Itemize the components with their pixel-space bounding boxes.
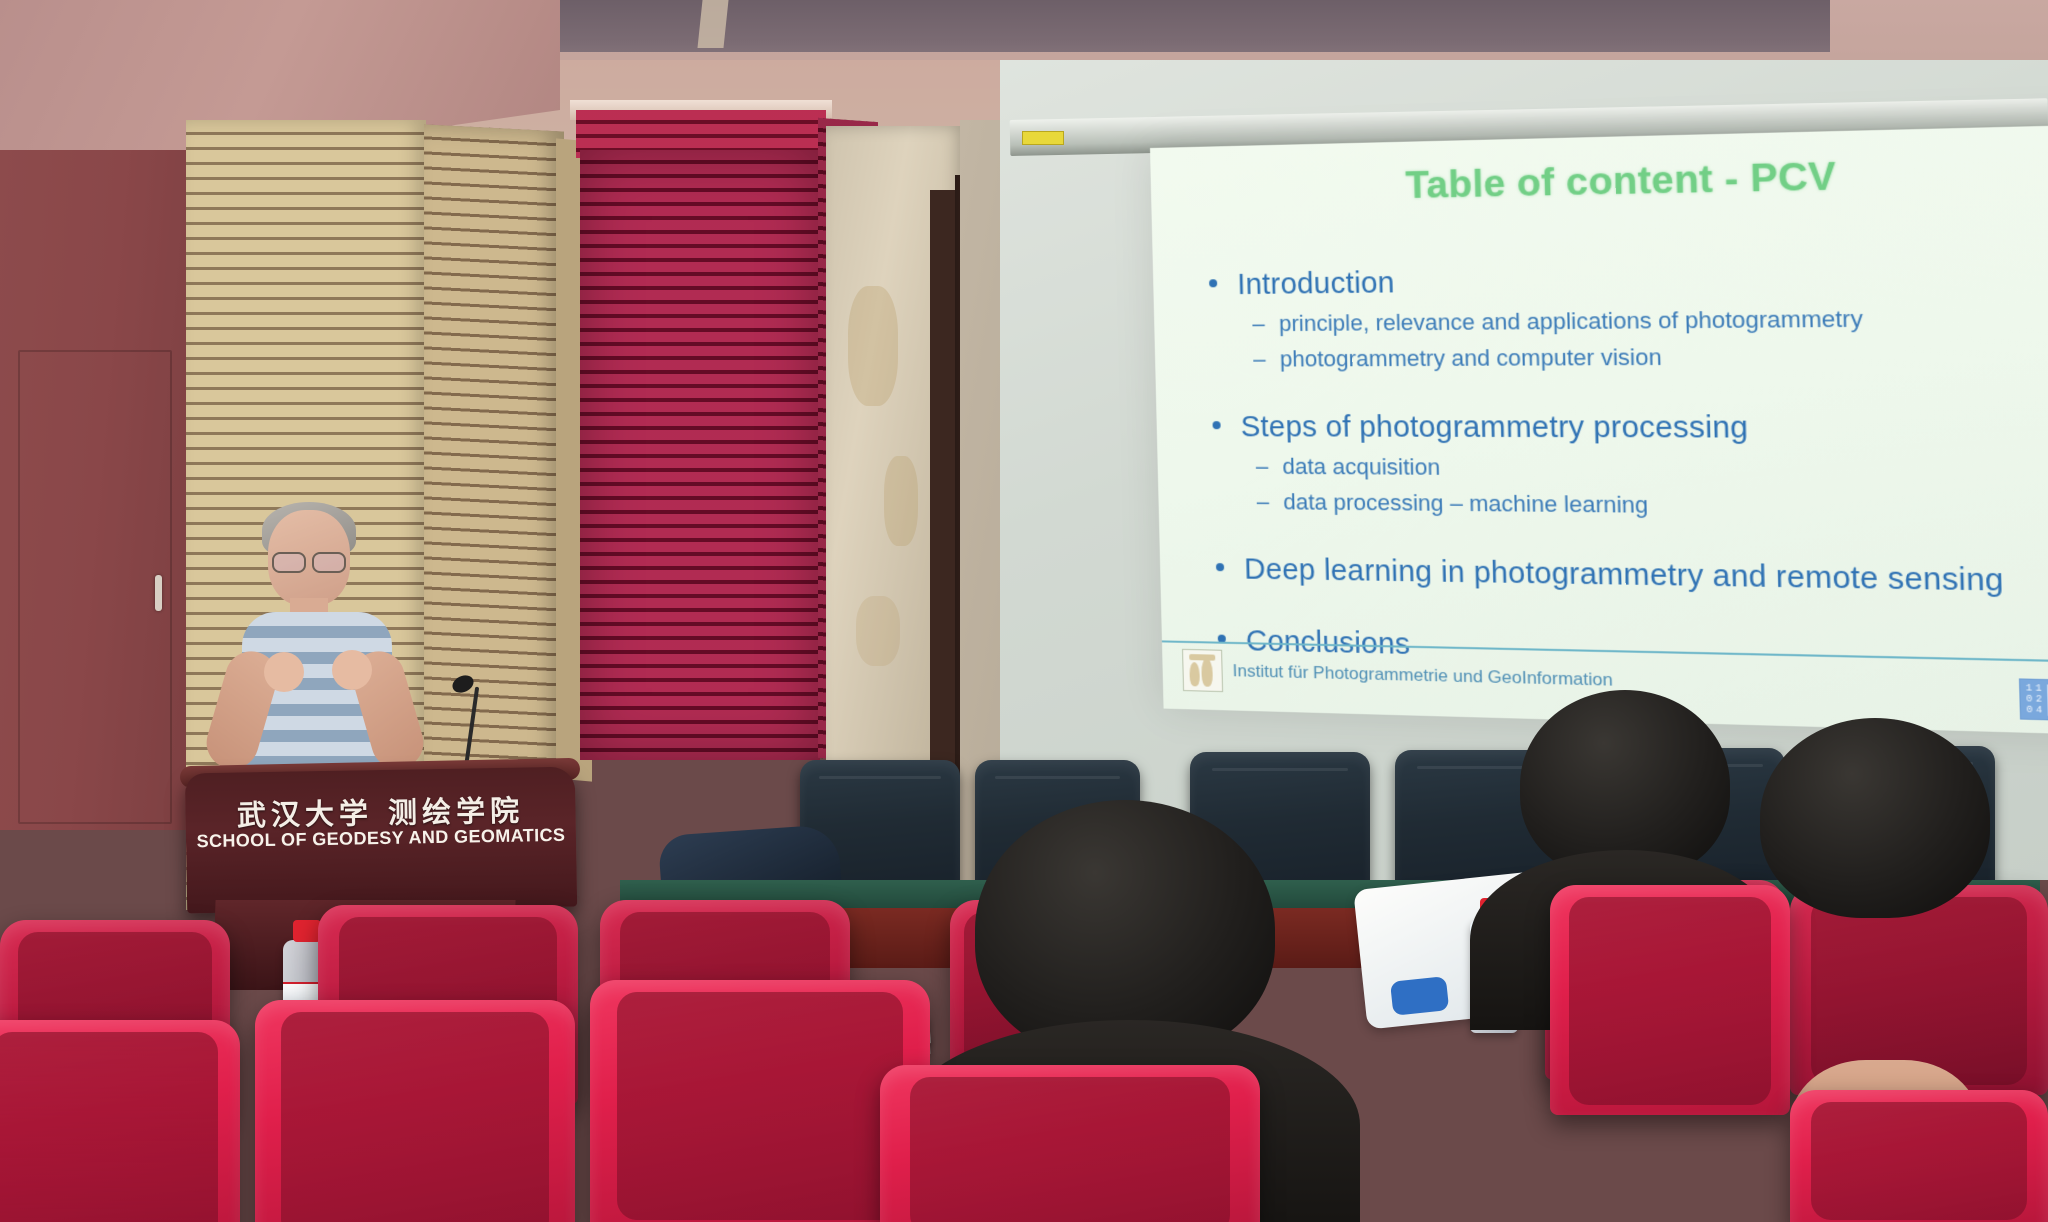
institute-name: Institut für Photogrammetrie und GeoInfo… [1232,661,1613,691]
leibniz-universitaet-hannover-logo: 1 1 0 2 0 4 Leibniz Universität Hannover [2019,678,2048,722]
door-handle [155,575,162,611]
dash-icon: – [1252,311,1265,337]
slide-title: Table of content - PCV [1151,148,2048,212]
audience-seat-foreground [1550,885,1790,1115]
audience-member-head [1760,718,1990,918]
dash-icon: – [1256,489,1269,515]
bullet-text: Steps of photogrammetry processing [1240,411,1748,446]
lecture-hall-photo: Table of content - PCV Introduction – pr… [0,0,2048,1222]
slide-footer: Institut für Photogrammetrie und GeoInfo… [1182,649,1613,702]
bag-blue-item [1390,976,1449,1016]
slide-bullet-level2: – principle, relevance and applications … [1252,303,2048,337]
bottle-cap [293,920,321,942]
housing-label-sticker [1022,131,1064,145]
slide-spacer [1207,370,2048,407]
slide-body: Introduction – principle, relevance and … [1205,253,2048,678]
subbullet-text: principle, relevance and applications of… [1279,305,1864,337]
subbullet-text: photogrammetry and computer vision [1280,344,1663,373]
subbullet-text: data processing – machine learning [1283,489,1649,519]
presenter-hand-left [264,652,304,692]
ipi-institute-logo-icon [1182,649,1223,692]
presenter [220,500,470,790]
audience-seat-foreground [0,1020,240,1222]
glasses-icon [272,552,346,569]
presentation-slide[interactable]: Table of content - PCV Introduction – pr… [1150,124,2048,736]
audience-seat-foreground [590,980,930,1222]
bullet-dot-icon [1212,421,1220,429]
wall-left-panel [0,150,190,830]
slide-bullet-level1: Introduction [1205,258,2048,303]
dash-icon: – [1256,454,1269,480]
slide-bullet-level2: – data acquisition [1256,454,2048,486]
ceiling-beam [697,0,728,48]
dash-icon: – [1253,346,1266,372]
slide-bullet-level1: Steps of photogrammetry processing [1208,411,2048,447]
subbullet-text: data acquisition [1282,454,1440,481]
bullet-text: Introduction [1237,267,1395,302]
audience-seat-foreground [880,1065,1260,1222]
bullet-dot-icon [1216,563,1224,571]
red-panel-main [580,150,820,760]
podium: 武汉大学 测绘学院 SCHOOL OF GEODESY AND GEOMATIC… [185,767,577,914]
presenter-hand-right [332,650,372,690]
leibniz-logo-digits: 1 1 0 2 0 4 [2026,683,2048,715]
slide-bullet-level2: – photogrammetry and computer vision [1253,341,2048,372]
audience-seat-foreground [255,1000,575,1222]
audience-seat-foreground [1790,1090,2048,1222]
bullet-dot-icon [1209,279,1217,287]
